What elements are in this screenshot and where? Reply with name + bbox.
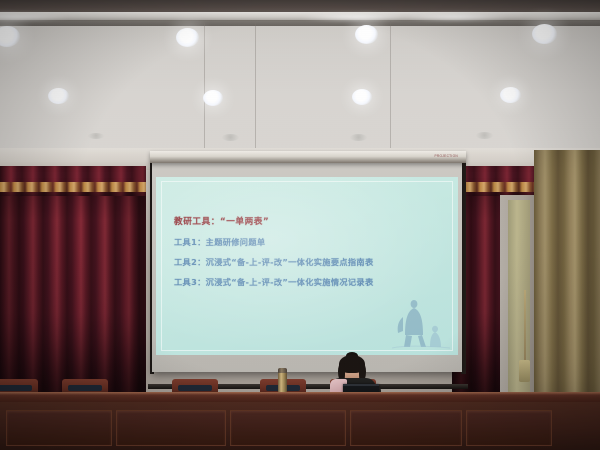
ceiling — [0, 0, 600, 152]
slide-line-tool-1: 工具1：主题研修问题单 — [174, 236, 446, 248]
ink-painting-figure-icon — [390, 295, 452, 353]
curtain-cord-tassel[interactable] — [519, 360, 530, 382]
rail-glow — [400, 13, 510, 21]
ceiling-fixture-unlit — [222, 134, 239, 141]
thermos-flask[interactable] — [278, 371, 287, 393]
ceiling-light — [0, 26, 20, 47]
screen-brand-label: PROJECTION — [434, 154, 458, 158]
podium-table-highlight — [0, 392, 600, 395]
curtain-shading — [0, 166, 146, 411]
ceiling-light — [176, 28, 199, 47]
ceiling-light — [203, 90, 223, 106]
projected-slide: 教研工具：“一单两表” 工具1：主题研修问题单 工具2：沉浸式“备-上-评-改”… — [156, 177, 458, 355]
ceiling-light — [48, 88, 69, 104]
table-panel — [116, 410, 226, 446]
valance-gold-trim — [0, 182, 146, 192]
table-panel — [350, 410, 462, 446]
ceiling-seam — [255, 21, 256, 151]
ceiling-fixture-unlit — [88, 133, 104, 139]
ceiling-light — [352, 89, 372, 105]
screen-housing: PROJECTION — [150, 151, 466, 163]
table-panel — [6, 410, 112, 446]
slide-line-tool-3: 工具3：沉浸式“备-上-评-改”一体化实施情况记录表 — [174, 276, 446, 288]
ceiling-light — [355, 25, 378, 44]
laptop-screen-edge — [343, 384, 379, 386]
curtain-valance-left — [0, 166, 146, 196]
ceiling-light — [532, 24, 557, 44]
curtain-pull-cord[interactable] — [524, 290, 526, 365]
thermos-cap[interactable] — [278, 368, 287, 373]
ceiling-fixture-unlit — [476, 132, 493, 139]
curtain-left — [0, 166, 146, 411]
table-panel — [466, 410, 552, 446]
conference-room-photo: PROJECTION 教研工具：“一单两表” 工具1：主题研修问题单 工具2：沉… — [0, 0, 600, 450]
slide-content: 教研工具：“一单两表” 工具1：主题研修问题单 工具2：沉浸式“备-上-评-改”… — [174, 215, 446, 296]
ceiling-fixture-unlit — [350, 134, 367, 141]
slide-title: 教研工具：“一单两表” — [174, 215, 446, 227]
table-panel — [230, 410, 346, 446]
ceiling-light — [500, 87, 521, 103]
slide-line-tool-2: 工具2：沉浸式“备-上-评-改”一体化实施要点指南表 — [174, 256, 446, 268]
